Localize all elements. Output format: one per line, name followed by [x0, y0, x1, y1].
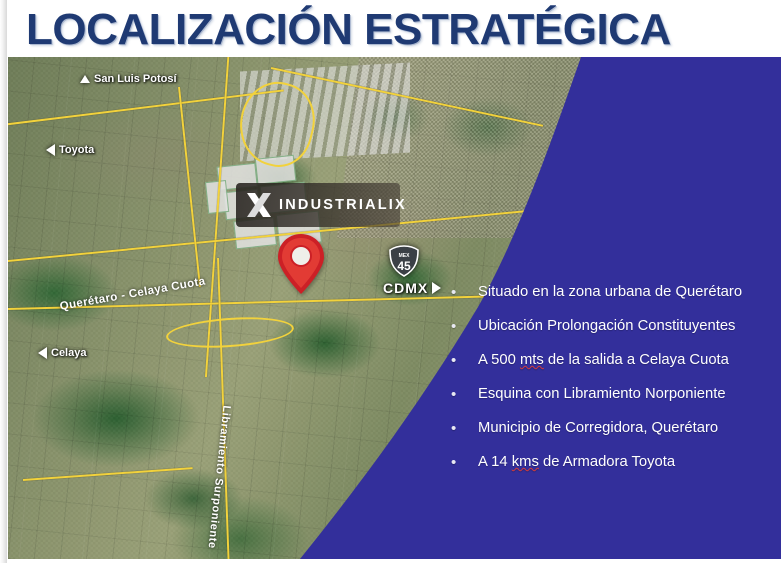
map-label-celaya: Celaya: [38, 347, 86, 359]
map-label-text: Toyota: [59, 144, 94, 156]
highway-shield-45-icon: MEX 45: [389, 245, 419, 277]
slide-left-border: [0, 0, 7, 563]
svg-text:45: 45: [397, 259, 411, 273]
page-title: LOCALIZACIÓN ESTRATÉGICA: [26, 5, 671, 55]
bullet-text: Municipio de Corregidora, Querétaro: [478, 413, 778, 444]
bullet-text: A 500 mts de la salida a Celaya Cuota: [478, 345, 778, 376]
bullet-marker: •: [448, 447, 478, 478]
slide-canvas: LOCALIZACIÓN ESTRATÉGICA: [0, 0, 781, 563]
industrialix-logo[interactable]: INDUSTRIALIX: [236, 183, 400, 227]
bullet-text: A 14 kms de Armadora Toyota: [478, 447, 778, 478]
list-item: • A 500 mts de la salida a Celaya Cuota: [448, 345, 778, 376]
bullet-text: Situado en la zona urbana de Querétaro: [478, 277, 778, 308]
arrow-left-icon: [46, 144, 55, 156]
bullet-marker: •: [448, 345, 478, 376]
bullet-text: Ubicación Prolongación Constituyentes: [478, 311, 778, 342]
bullet-marker: •: [448, 277, 478, 308]
bullet-marker: •: [448, 413, 478, 444]
map-label-text: Celaya: [51, 347, 86, 359]
map-label-text: CDMX: [383, 280, 428, 296]
list-item: • Ubicación Prolongación Constituyentes: [448, 311, 778, 342]
x-mark-icon: [246, 192, 272, 218]
arrow-right-icon: [432, 282, 441, 294]
map-pin-icon[interactable]: [276, 233, 326, 295]
bullet-marker: •: [448, 311, 478, 342]
arrow-up-icon: [80, 75, 90, 83]
bullet-list: • Situado en la zona urbana de Querétaro…: [448, 277, 778, 481]
bullet-text: Esquina con Libramiento Norponiente: [478, 379, 778, 410]
list-item: • Esquina con Libramiento Norponiente: [448, 379, 778, 410]
list-item: • A 14 kms de Armadora Toyota: [448, 447, 778, 478]
bullet-marker: •: [448, 379, 478, 410]
arrow-left-icon: [38, 347, 47, 359]
map-label-cdmx: CDMX: [383, 280, 441, 296]
list-item: • Municipio de Corregidora, Querétaro: [448, 413, 778, 444]
map-label-toyota: Toyota: [46, 144, 94, 156]
map-label-san-luis-potosi: San Luis Potosí: [80, 73, 177, 85]
list-item: • Situado en la zona urbana de Querétaro: [448, 277, 778, 308]
logo-text: INDUSTRIALIX: [279, 197, 407, 213]
map-label-text: San Luis Potosí: [94, 73, 177, 85]
